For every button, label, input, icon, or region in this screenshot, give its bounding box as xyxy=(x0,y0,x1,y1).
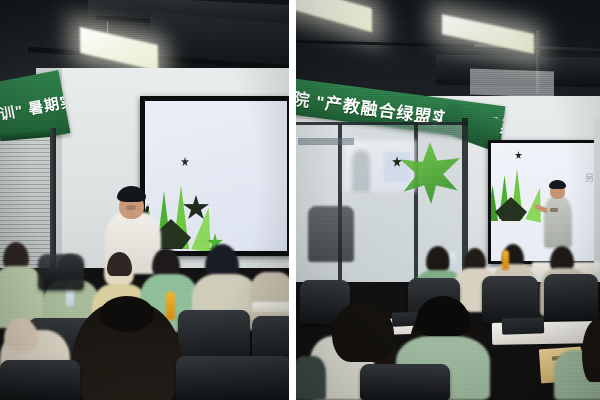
ceiling-beam xyxy=(470,69,554,98)
right-photo: 院 "产教融合绿盟实训" 暑期实训 xyxy=(296,0,600,400)
panel-divider xyxy=(289,0,296,400)
projector-screen-left: · · · · · · xyxy=(145,101,287,251)
chair-foreground xyxy=(360,364,450,400)
star-tiny xyxy=(181,157,189,166)
glass-top-rail xyxy=(296,122,468,125)
water-bottle xyxy=(450,252,456,270)
star-dark xyxy=(495,197,527,221)
presenter-hair-right xyxy=(549,180,566,189)
chair-back xyxy=(544,274,598,320)
presenter-hair-left xyxy=(117,186,146,202)
chair-foreground xyxy=(0,360,80,400)
glass-reflection-text xyxy=(298,138,354,145)
photo-collage: 训" 暑期实训 · · · · · · xyxy=(0,0,600,400)
laptop xyxy=(502,317,545,334)
orange-drink-bottle xyxy=(502,250,509,270)
chair-foreground xyxy=(176,356,289,400)
presenter-body-right xyxy=(544,196,572,248)
chair-back-far xyxy=(38,254,84,290)
wall-right-strip xyxy=(594,118,600,282)
foreground-hair-top xyxy=(100,296,154,332)
glass-reflection-person xyxy=(352,150,370,192)
left-photo: 训" 暑期实训 · · · · · · xyxy=(0,0,289,400)
banner-left-text: 训" 暑期实训 xyxy=(0,86,70,124)
desk xyxy=(252,302,289,312)
window-mullion xyxy=(50,128,56,270)
screen-side-text: 另 xyxy=(585,171,594,184)
foreground-shoulder xyxy=(296,356,326,400)
star-tiny xyxy=(515,151,522,159)
audience-body xyxy=(250,272,289,320)
star-dark xyxy=(183,195,209,219)
projector-screen-frame: · · · · · · xyxy=(140,96,289,256)
foreground-hair xyxy=(332,302,394,362)
foreground-head xyxy=(4,318,38,352)
presenter-shirt-logo xyxy=(550,208,558,212)
star-spike xyxy=(491,185,498,221)
screen-watermark-left: · · · · · · xyxy=(270,241,283,245)
glass-reflection-chair xyxy=(308,206,354,262)
presenter-face-shadow xyxy=(126,205,136,210)
orange-drink-bottle xyxy=(166,292,175,320)
